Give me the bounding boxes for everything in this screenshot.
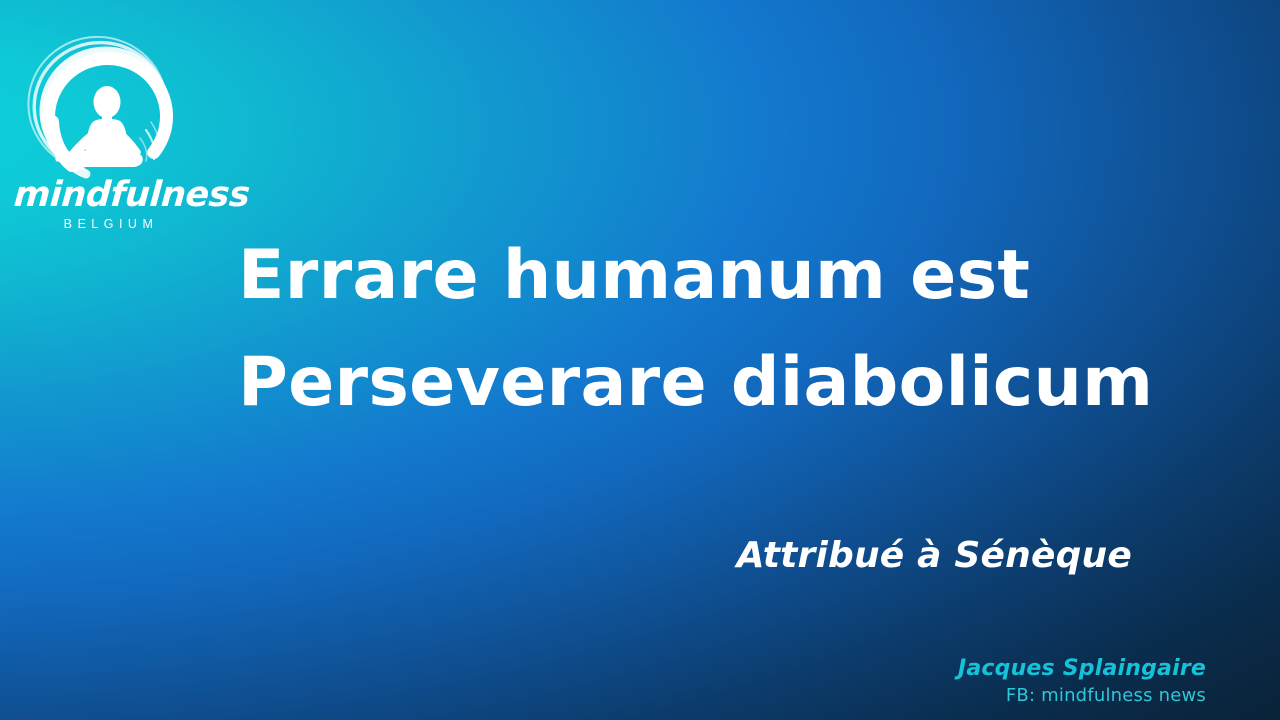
quote-line-2: Perseverare diabolicum xyxy=(238,329,1138,436)
credit-social-handle: FB: mindfulness news xyxy=(958,683,1206,708)
credits-block: Jacques Splaingaire FB: mindfulness news xyxy=(958,655,1206,708)
logo-word-belgium: BELGIUM xyxy=(14,218,204,231)
logo-word-mindfulness: mindfulness xyxy=(13,178,205,213)
attribution-text: Attribué à Sénèque xyxy=(737,535,1132,576)
credit-author-name: Jacques Splaingaire xyxy=(958,655,1206,683)
enso-circle-meditating-figure-icon xyxy=(22,18,192,183)
logo-wordmark: mindfulness BELGIUM xyxy=(14,178,204,231)
quote-line-1: Errare humanum est xyxy=(238,222,1138,329)
brand-logo: mindfulness BELGIUM xyxy=(14,18,204,230)
attribution: Attribué à Sénèque xyxy=(0,535,1132,576)
quote-block: Errare humanum est Perseverare diabolicu… xyxy=(238,222,1138,437)
quote-slide: mindfulness BELGIUM Errare humanum est P… xyxy=(0,0,1280,720)
